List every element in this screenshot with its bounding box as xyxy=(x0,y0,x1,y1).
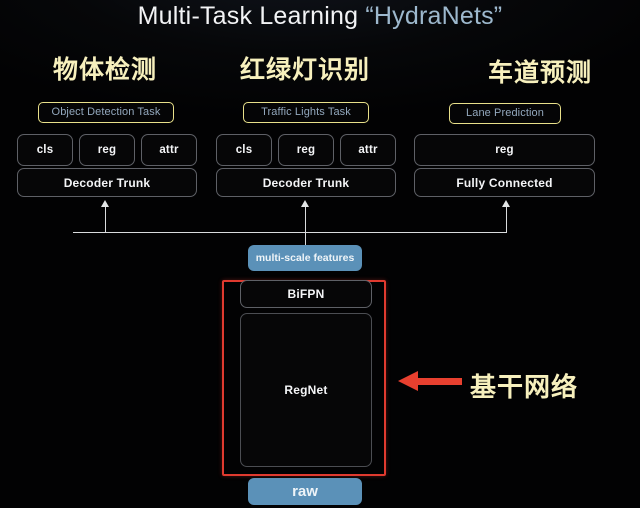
node-lane-fully-connected[interactable]: Fully Connected xyxy=(414,168,595,197)
node-tl-attr[interactable]: attr xyxy=(340,134,396,166)
box-multi-scale-features[interactable]: multi-scale features xyxy=(248,245,362,271)
page-title-main: Multi-Task Learning xyxy=(138,2,366,30)
node-od-attr[interactable]: attr xyxy=(141,134,197,166)
box-raw-input[interactable]: raw xyxy=(248,478,362,505)
badge-object-detection-task[interactable]: Object Detection Task xyxy=(38,102,174,123)
badge-lane-prediction[interactable]: Lane Prediction xyxy=(449,103,561,124)
node-lane-reg[interactable]: reg xyxy=(414,134,595,166)
node-bifpn[interactable]: BiFPN xyxy=(240,280,372,308)
feature-branch-left-arrow-icon xyxy=(101,200,109,207)
heading-object-detection-cn: 物体检测 xyxy=(15,50,195,86)
node-od-reg[interactable]: reg xyxy=(79,134,135,166)
feature-bracket-horizontal xyxy=(73,232,507,233)
backbone-annotation-label-cn: 基干网络 xyxy=(470,367,620,404)
heading-traffic-lights-cn: 红绿灯识别 xyxy=(215,50,395,86)
node-tl-cls[interactable]: cls xyxy=(216,134,272,166)
slide-canvas: Multi-Task Learning “HydraNets” 物体检测 红绿灯… xyxy=(0,0,640,508)
node-regnet[interactable]: RegNet xyxy=(240,313,372,467)
arrow-head xyxy=(398,371,418,391)
heading-lane-prediction-cn: 车道预测 xyxy=(450,53,630,89)
backbone-annotation-arrow-icon xyxy=(398,371,462,392)
node-tl-reg[interactable]: reg xyxy=(278,134,334,166)
node-od-cls[interactable]: cls xyxy=(17,134,73,166)
feature-branch-left-stem xyxy=(105,206,106,233)
feature-branch-right-arrow-icon xyxy=(502,200,510,207)
page-title: Multi-Task Learning “HydraNets” xyxy=(0,2,640,31)
page-title-accent: “HydraNets” xyxy=(365,2,502,30)
feature-branch-center-arrow-icon xyxy=(301,200,309,207)
node-od-decoder-trunk[interactable]: Decoder Trunk xyxy=(17,168,197,197)
node-tl-decoder-trunk[interactable]: Decoder Trunk xyxy=(216,168,396,197)
feature-branch-center-stem xyxy=(305,206,306,233)
feature-trunk-stem xyxy=(305,232,306,246)
arrow-shaft xyxy=(418,378,462,385)
badge-traffic-lights-task[interactable]: Traffic Lights Task xyxy=(243,102,369,123)
feature-branch-right-stem xyxy=(506,206,507,233)
